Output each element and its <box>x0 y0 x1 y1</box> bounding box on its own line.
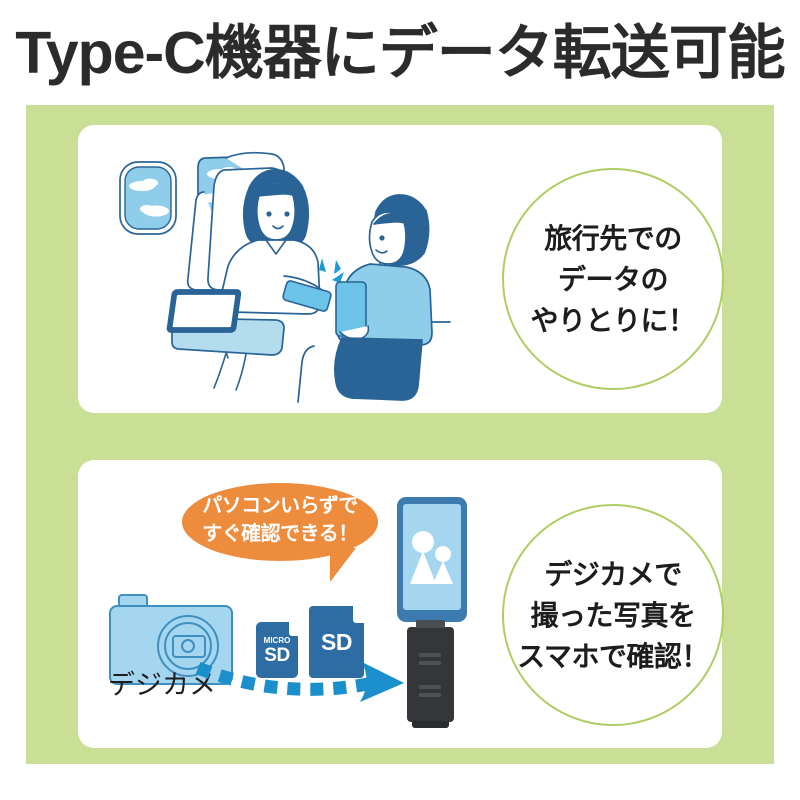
page-title-text: Type-C機器にデータ転送可能 <box>15 18 785 88</box>
card-reader-dongle <box>407 627 454 722</box>
transfer-arrow-icon <box>190 650 415 712</box>
smartphone-screen <box>403 504 461 610</box>
speech-bubble-line-2: すぐ確認できる！ <box>182 520 378 548</box>
speech-bubble-line-1: パソコンいらずで <box>182 492 378 520</box>
reader-usbc-connector <box>416 620 445 628</box>
callout-camera-line-3: スマホで確認！ <box>517 636 709 677</box>
microsd-card-icon: MICRO SD <box>256 622 298 678</box>
microsd-label-big: SD <box>256 645 298 667</box>
sd-notch <box>353 606 364 623</box>
microsd-label-small: MICRO <box>256 636 298 645</box>
callout-travel-line-1: 旅行先での <box>530 218 695 259</box>
reader-slot-2 <box>419 661 441 665</box>
callout-travel-line-3: やりとりに！ <box>530 300 695 341</box>
sd-label-big: SD <box>309 629 364 656</box>
reader-slot-4 <box>419 693 441 697</box>
reader-base <box>412 721 449 728</box>
callout-travel-text: 旅行先での データの やりとりに！ <box>530 218 695 341</box>
smartphone-preview <box>397 497 467 622</box>
callout-travel: 旅行先での データの やりとりに！ <box>502 168 724 390</box>
page-title: Type-C機器にデータ転送可能 <box>0 18 800 88</box>
callout-camera: デジカメで 撮った写真を スマホで確認！ <box>502 504 724 726</box>
reader-slot-3 <box>419 685 441 689</box>
microsd-notch <box>289 622 298 636</box>
sd-card-icon: SD <box>309 606 364 678</box>
reader-slot-1 <box>419 653 441 657</box>
speech-bubble-tail <box>330 548 356 582</box>
callout-camera-text: デジカメで 撮った写真を スマホで確認！ <box>517 554 709 677</box>
callout-travel-line-2: データの <box>530 259 695 300</box>
speech-bubble-text: パソコンいらずで すぐ確認できる！ <box>182 492 378 548</box>
infographic-page: Type-C機器にデータ転送可能 <box>0 0 800 800</box>
callout-camera-line-1: デジカメで <box>517 554 709 595</box>
callout-camera-line-2: 撮った写真を <box>517 595 709 636</box>
airplane-cabin-illustration <box>108 140 468 405</box>
